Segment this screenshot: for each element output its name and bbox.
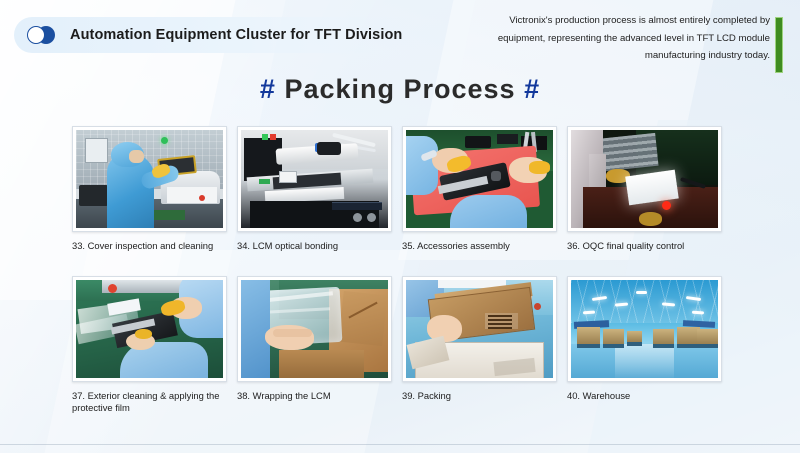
hash-left: #: [260, 74, 276, 104]
photo-warehouse: [571, 280, 718, 378]
gallery-cell[interactable]: 36. OQC final quality control: [567, 126, 732, 253]
photo-caption: 34. LCM optical bonding: [237, 240, 389, 253]
photo-caption: 33. Cover inspection and cleaning: [72, 240, 224, 253]
photo-frame[interactable]: [567, 276, 722, 382]
photo-packing: [406, 280, 553, 378]
header-badge: Automation Equipment Cluster for TFT Div…: [14, 17, 424, 53]
photo-frame[interactable]: [402, 126, 557, 232]
green-accent-bar: [775, 17, 783, 73]
gallery-cell[interactable]: 40. Warehouse: [567, 276, 732, 415]
gallery-row-2: 37. Exterior cleaning & applying the pro…: [72, 276, 732, 415]
photo-caption: 39. Packing: [402, 390, 554, 403]
photo-wrapping-the-lcm: [241, 280, 388, 378]
photo-caption: 36. OQC final quality control: [567, 240, 719, 253]
photo-frame[interactable]: [237, 126, 392, 232]
photo-lcm-optical-bonding: [241, 130, 388, 228]
photo-frame[interactable]: [402, 276, 557, 382]
photo-accessories-assembly: [406, 130, 553, 228]
gallery-cell[interactable]: 37. Exterior cleaning & applying the pro…: [72, 276, 237, 415]
photo-frame[interactable]: [72, 276, 227, 382]
gallery-cell[interactable]: 33. Cover inspection and cleaning: [72, 126, 237, 253]
toggle-switch-icon: [26, 26, 58, 44]
gallery-cell[interactable]: 38. Wrapping the LCM: [237, 276, 402, 415]
bottom-divider: [0, 444, 800, 445]
gallery-cell[interactable]: 39. Packing: [402, 276, 567, 415]
photo-cover-inspection-and-cleaning: [76, 130, 223, 228]
slide-root: Automation Equipment Cluster for TFT Div…: [0, 0, 800, 453]
page-title: # Packing Process #: [0, 74, 800, 105]
photo-frame[interactable]: [237, 276, 392, 382]
photo-oqc-final-quality-control: [571, 130, 718, 228]
photo-caption: 38. Wrapping the LCM: [237, 390, 389, 403]
photo-caption: 35. Accessories assembly: [402, 240, 554, 253]
page-title-text: Packing Process: [284, 74, 515, 104]
photo-caption: 37. Exterior cleaning & applying the pro…: [72, 390, 224, 415]
photo-exterior-cleaning-protective-film: [76, 280, 223, 378]
photo-caption: 40. Warehouse: [567, 390, 719, 403]
header-title: Automation Equipment Cluster for TFT Div…: [70, 27, 402, 43]
gallery-row-1: 33. Cover inspection and cleaning 34. LC…: [72, 126, 732, 253]
photo-frame[interactable]: [72, 126, 227, 232]
hash-right: #: [524, 74, 540, 104]
photo-frame[interactable]: [567, 126, 722, 232]
photo-gallery: 33. Cover inspection and cleaning 34. LC…: [72, 126, 732, 415]
gallery-cell[interactable]: 35. Accessories assembly: [402, 126, 567, 253]
header-note: Victronix's production process is almost…: [470, 12, 770, 65]
gallery-cell[interactable]: 34. LCM optical bonding: [237, 126, 402, 253]
